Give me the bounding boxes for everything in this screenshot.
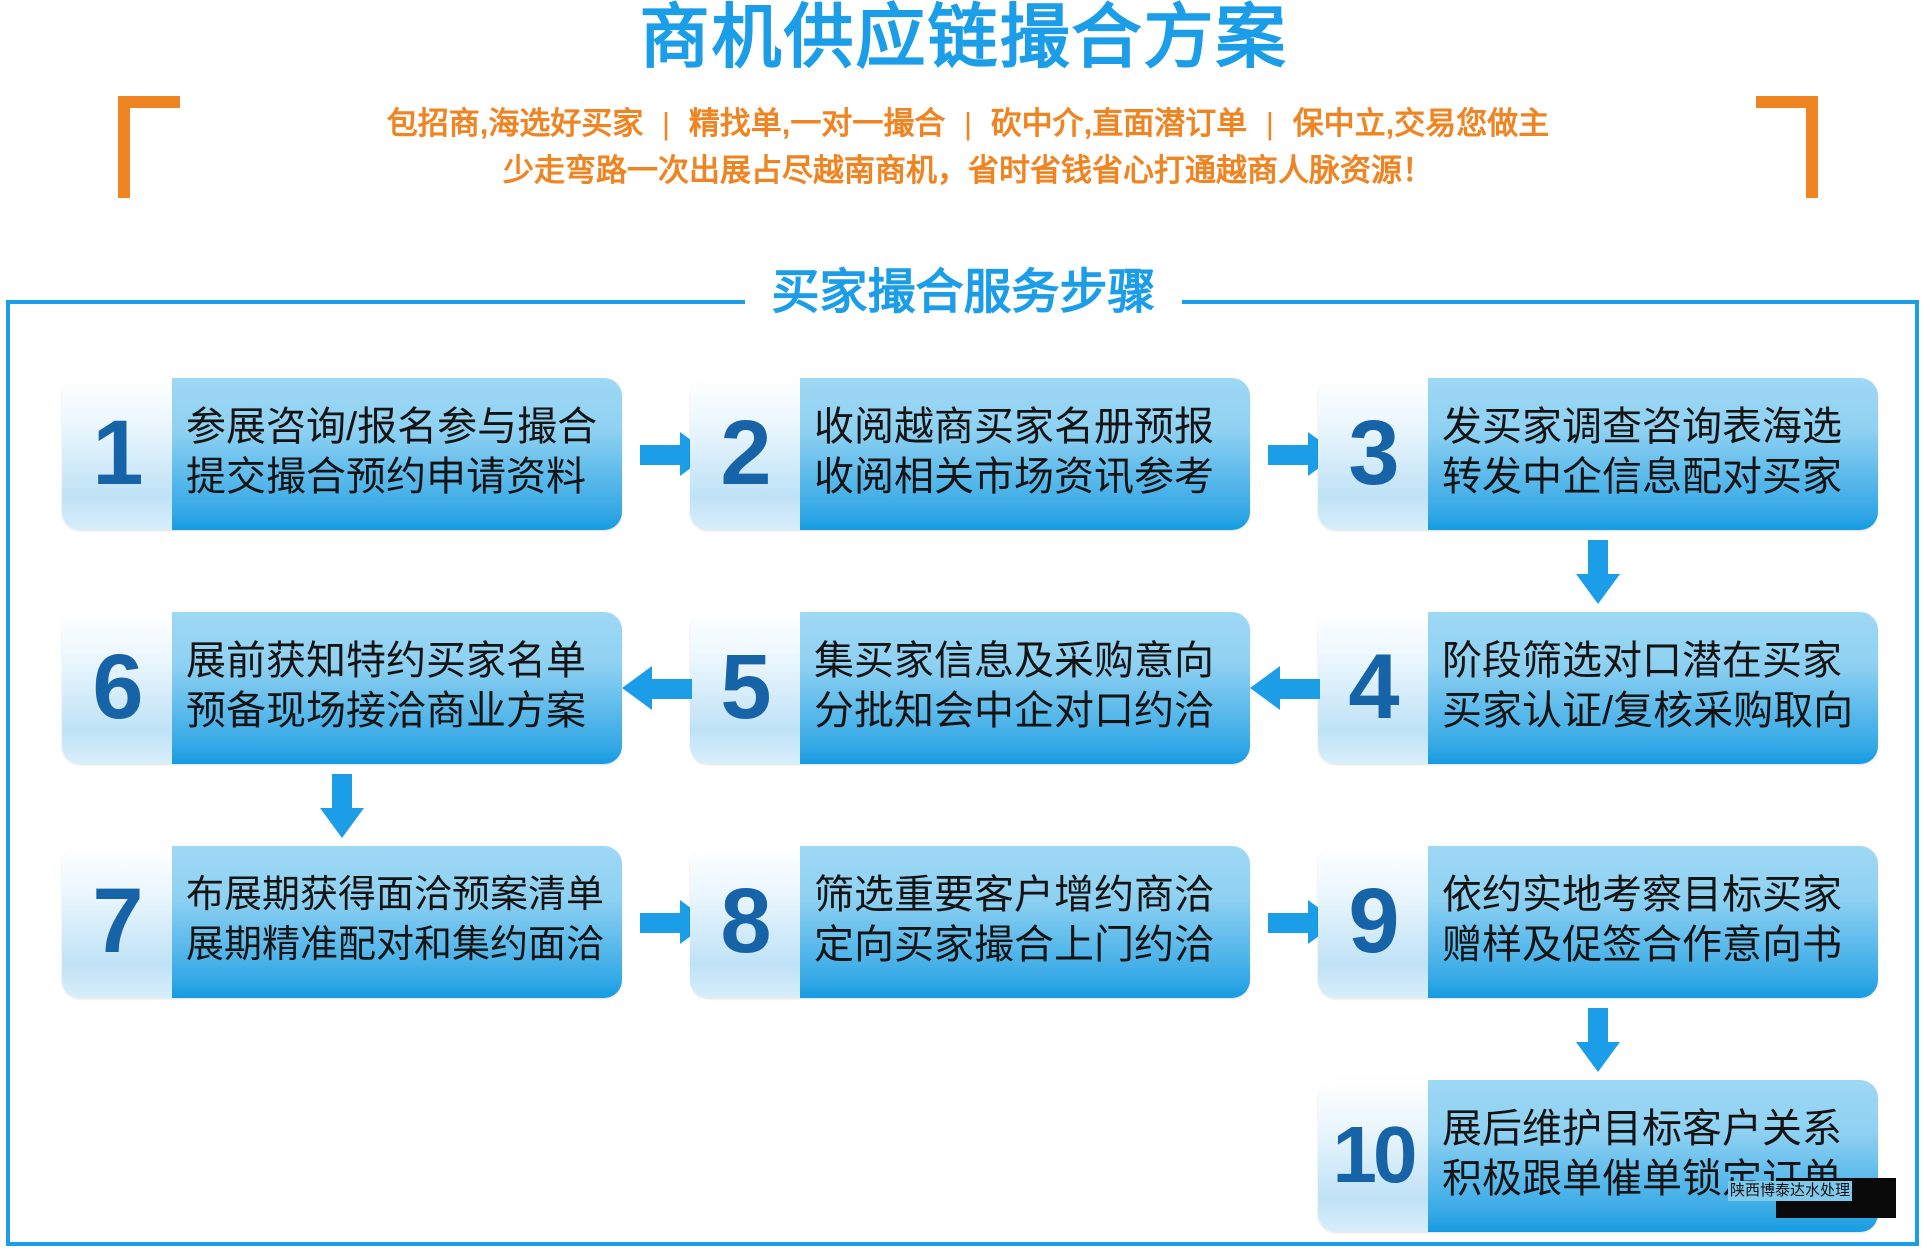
watermark-text: 陕西博泰达水处理 xyxy=(1728,1181,1852,1201)
arrow-shaft xyxy=(1278,679,1320,699)
arrow-head-icon xyxy=(622,666,652,710)
step-text-8: 筛选重要客户增约商洽 定向买家撮合上门约洽 xyxy=(800,846,1250,998)
step-line-5a: 集买家信息及采购意向 xyxy=(814,636,1236,686)
arrow-head-icon xyxy=(1250,666,1280,710)
step-box-5[interactable]: 5 集买家信息及采购意向 分批知会中企对口约洽 xyxy=(690,612,1250,764)
step-line-10a: 展后维护目标客户关系 xyxy=(1442,1104,1864,1154)
step-line-7b: 展期精准配对和集约面洽 xyxy=(186,920,608,970)
arrow-shaft xyxy=(640,445,682,465)
step-line-7a: 布展期获得面洽预案清单 xyxy=(186,870,608,920)
arrow-shaft xyxy=(1588,1008,1608,1046)
step-text-2: 收阅越商买家名册预报 收阅相关市场资讯参考 xyxy=(800,378,1250,530)
step-line-2a: 收阅越商买家名册预报 xyxy=(814,402,1236,452)
step-number-7: 7 xyxy=(62,846,172,998)
step-text-7: 布展期获得面洽预案清单 展期精准配对和集约面洽 xyxy=(172,846,622,998)
step-number-3: 3 xyxy=(1318,378,1428,530)
subtitle-separator-2: | xyxy=(954,106,982,141)
step-box-3[interactable]: 3 发买家调查咨询表海选 转发中企信息配对买家 xyxy=(1318,378,1878,530)
step-line-9b: 赠样及促签合作意向书 xyxy=(1442,920,1864,970)
step-text-9: 依约实地考察目标买家 赠样及促签合作意向书 xyxy=(1428,846,1878,998)
arrow-left-4-to-5 xyxy=(1250,666,1320,710)
subtitle-claim-1: 包招商,海选好买家 xyxy=(387,106,644,141)
step-number-10: 10 xyxy=(1318,1080,1428,1232)
header: 商机供应链撮合方案 包招商,海选好买家 | 精找单,一对一撮合 | 砍中介,直面… xyxy=(0,0,1927,205)
panel-title: 买家撮合服务步骤 xyxy=(0,265,1927,321)
step-line-5b: 分批知会中企对口约洽 xyxy=(814,686,1236,736)
panel-title-label: 买家撮合服务步骤 xyxy=(745,266,1181,319)
step-line-1b: 提交撮合预约申请资料 xyxy=(186,452,608,502)
arrow-down-3-to-4 xyxy=(1576,540,1620,602)
step-box-8[interactable]: 8 筛选重要客户增约商洽 定向买家撮合上门约洽 xyxy=(690,846,1250,998)
step-line-2b: 收阅相关市场资讯参考 xyxy=(814,452,1236,502)
arrow-left-5-to-6 xyxy=(622,666,692,710)
step-text-6: 展前获知特约买家名单 预备现场接洽商业方案 xyxy=(172,612,622,764)
step-box-4[interactable]: 4 阶段筛选对口潜在买家 买家认证/复核采购取向 xyxy=(1318,612,1878,764)
arrow-shaft xyxy=(1588,540,1608,578)
step-line-1a: 参展咨询/报名参与撮合 xyxy=(186,402,608,452)
step-box-9[interactable]: 9 依约实地考察目标买家 赠样及促签合作意向书 xyxy=(1318,846,1878,998)
step-text-5: 集买家信息及采购意向 分批知会中企对口约洽 xyxy=(800,612,1250,764)
step-line-6b: 预备现场接洽商业方案 xyxy=(186,686,608,736)
step-line-4a: 阶段筛选对口潜在买家 xyxy=(1442,636,1864,686)
step-line-6a: 展前获知特约买家名单 xyxy=(186,636,608,686)
arrow-shaft xyxy=(332,774,352,812)
step-box-2[interactable]: 2 收阅越商买家名册预报 收阅相关市场资讯参考 xyxy=(690,378,1250,530)
subtitle-banner: 包招商,海选好买家 | 精找单,一对一撮合 | 砍中介,直面潜订单 | 保中立,… xyxy=(118,96,1818,198)
subtitle-claim-3: 砍中介,直面潜订单 xyxy=(991,106,1248,141)
step-line-3b: 转发中企信息配对买家 xyxy=(1442,452,1864,502)
subtitle-line-1: 包招商,海选好买家 | 精找单,一对一撮合 | 砍中介,直面潜订单 | 保中立,… xyxy=(158,100,1778,147)
subtitle-text: 包招商,海选好买家 | 精找单,一对一撮合 | 砍中介,直面潜订单 | 保中立,… xyxy=(158,100,1778,194)
step-line-4b: 买家认证/复核采购取向 xyxy=(1442,686,1864,736)
arrow-head-icon xyxy=(1576,574,1620,604)
subtitle-line-2: 少走弯路一次出展占尽越南商机，省时省钱省心打通越商人脉资源！ xyxy=(158,147,1778,194)
step-number-6: 6 xyxy=(62,612,172,764)
page-title: 商机供应链撮合方案 xyxy=(0,0,1927,76)
step-line-3a: 发买家调查咨询表海选 xyxy=(1442,402,1864,452)
step-line-8b: 定向买家撮合上门约洽 xyxy=(814,920,1236,970)
watermark-badge: 陕西博泰达水处理 xyxy=(1776,1178,1896,1218)
arrow-shaft xyxy=(1268,913,1310,933)
arrow-shaft xyxy=(1268,445,1310,465)
step-number-5: 5 xyxy=(690,612,800,764)
step-box-7[interactable]: 7 布展期获得面洽预案清单 展期精准配对和集约面洽 xyxy=(62,846,622,998)
step-line-9a: 依约实地考察目标买家 xyxy=(1442,870,1864,920)
subtitle-separator-3: | xyxy=(1256,106,1284,141)
step-text-3: 发买家调查咨询表海选 转发中企信息配对买家 xyxy=(1428,378,1878,530)
arrow-shaft xyxy=(640,913,682,933)
subtitle-separator-1: | xyxy=(652,106,680,141)
arrow-head-icon xyxy=(320,808,364,838)
step-number-1: 1 xyxy=(62,378,172,530)
step-line-8a: 筛选重要客户增约商洽 xyxy=(814,870,1236,920)
step-text-1: 参展咨询/报名参与撮合 提交撮合预约申请资料 xyxy=(172,378,622,530)
step-text-4: 阶段筛选对口潜在买家 买家认证/复核采购取向 xyxy=(1428,612,1878,764)
subtitle-claim-2: 精找单,一对一撮合 xyxy=(689,106,946,141)
step-number-2: 2 xyxy=(690,378,800,530)
step-number-8: 8 xyxy=(690,846,800,998)
arrow-head-icon xyxy=(1576,1042,1620,1072)
step-number-4: 4 xyxy=(1318,612,1428,764)
arrow-down-6-to-7 xyxy=(320,774,364,836)
subtitle-claim-4: 保中立,交易您做主 xyxy=(1293,106,1550,141)
arrow-shaft xyxy=(650,679,692,699)
arrow-down-9-to-10 xyxy=(1576,1008,1620,1070)
step-number-9: 9 xyxy=(1318,846,1428,998)
step-box-1[interactable]: 1 参展咨询/报名参与撮合 提交撮合预约申请资料 xyxy=(62,378,622,530)
flow-diagram: 1 参展咨询/报名参与撮合 提交撮合预约申请资料 2 收阅越商买家名册预报 收阅… xyxy=(0,300,1927,1246)
step-box-6[interactable]: 6 展前获知特约买家名单 预备现场接洽商业方案 xyxy=(62,612,622,764)
